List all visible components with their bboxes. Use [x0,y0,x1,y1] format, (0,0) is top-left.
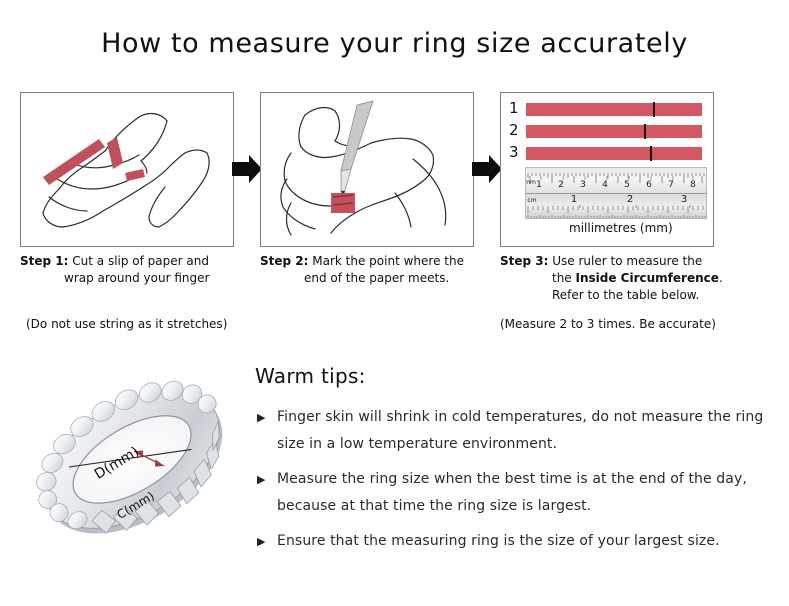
warm-tip-item-3: ▶ Ensure that the measuring ring is the … [255,528,775,555]
bullet-triangle-icon-2: ▶ [257,466,266,493]
ruler-mm-label-8: 8 [690,181,696,190]
strip-bar-2 [526,125,702,138]
hand-marking-paper-icon [261,93,474,247]
strip-bar-1 [526,103,702,116]
page-title: How to measure your ring size accurately [0,28,789,59]
ruler-top-edge-ticks [526,168,706,176]
strip-number-2: 2 [509,121,523,139]
step-2-caption: Step 2: Mark the point where the end of … [260,253,486,287]
step-3-line-2-prefix: the [552,271,576,285]
strip-mark-3 [650,146,652,161]
measured-strip-row-3: 3 [509,147,707,161]
ruler-bottom-fine-ticks [526,206,706,219]
paper-strip-marked-shape [331,193,355,213]
strip-mark-2 [644,124,646,139]
step-3-line-1: Use ruler to measure the [552,254,702,268]
step-1-label: Step 1: [20,254,68,268]
ruler-mm-scale: mm 1 2 3 4 5 6 7 8 [526,176,706,193]
step-3-note: (Measure 2 to 3 times. Be accurate) [500,317,716,331]
panel-step-1 [20,92,234,247]
step-1-line-2: wrap around your finger [20,270,246,287]
hand-with-paper-strip-icon [21,93,234,247]
step-3-inside-circumference-emphasis: Inside Circumference [576,271,719,285]
arrow-right-icon-1 [232,152,262,186]
warm-tip-text-1: Finger skin will shrink in cold temperat… [277,409,763,452]
step-3-line-2-suffix: . [719,271,723,285]
ruler-mm-label-6: 6 [646,181,652,190]
arrow-right-icon-2 [472,152,502,186]
measured-strip-row-2: 2 [509,125,707,139]
step-3-line-2: the Inside Circumference. [500,270,740,287]
warm-tip-item-1: ▶ Finger skin will shrink in cold temper… [255,404,775,458]
ruler-mm-label-3: 3 [580,181,586,190]
step-2-line-2: end of the paper meets. [260,270,486,287]
ruler-unit-caption: millimetres (mm) [569,221,673,235]
ruler-mm-label-1: 1 [536,181,542,190]
step-1-note: (Do not use string as it stretches) [26,317,227,331]
step-3-line-3: Refer to the table below. [500,287,740,304]
warm-tip-text-2: Measure the ring size when the best time… [277,471,747,514]
step-2-label: Step 2: [260,254,308,268]
ruler-mm-label-5: 5 [624,181,630,190]
bullet-triangle-icon-3: ▶ [257,528,266,555]
steps-illustration-row: 1 2 3 [0,92,789,248]
step-3-label: Step 3: [500,254,548,268]
strip-mark-1 [653,102,655,117]
panel-step-3: 1 2 3 [500,92,714,247]
ruler: mm 1 2 3 4 5 6 7 8 cm 1 2 3 [525,167,707,219]
warm-tip-text-3: Ensure that the measuring ring is the si… [277,533,720,549]
pen-shape [341,101,373,199]
ruler-mm-unit-label: mm [525,178,536,187]
strip-number-1: 1 [509,99,523,117]
bullet-triangle-icon-1: ▶ [257,404,266,431]
strip-bar-3 [526,147,702,160]
ruler-mm-label-2: 2 [558,181,564,190]
ring-diagram: D(mm) C(mm) [22,358,244,554]
ruler-mm-label-4: 4 [602,181,608,190]
measured-strip-row-1: 1 [509,103,707,117]
ruler-mm-label-7: 7 [668,181,674,190]
step-3-caption: Step 3: Use ruler to measure the the Ins… [500,253,740,304]
warm-tip-item-2: ▶ Measure the ring size when the best ti… [255,466,775,520]
step-1-line-1: Cut a slip of paper and [72,254,209,268]
warm-tips-heading: Warm tips: [255,364,775,388]
step-1-caption: Step 1: Cut a slip of paper and wrap aro… [20,253,246,287]
step-2-line-1: Mark the point where the [312,254,464,268]
panel-step-2 [260,92,474,247]
paper-strip-shape [43,137,145,185]
warm-tips-section: Warm tips: ▶ Finger skin will shrink in … [255,364,775,563]
strip-number-3: 3 [509,143,523,161]
